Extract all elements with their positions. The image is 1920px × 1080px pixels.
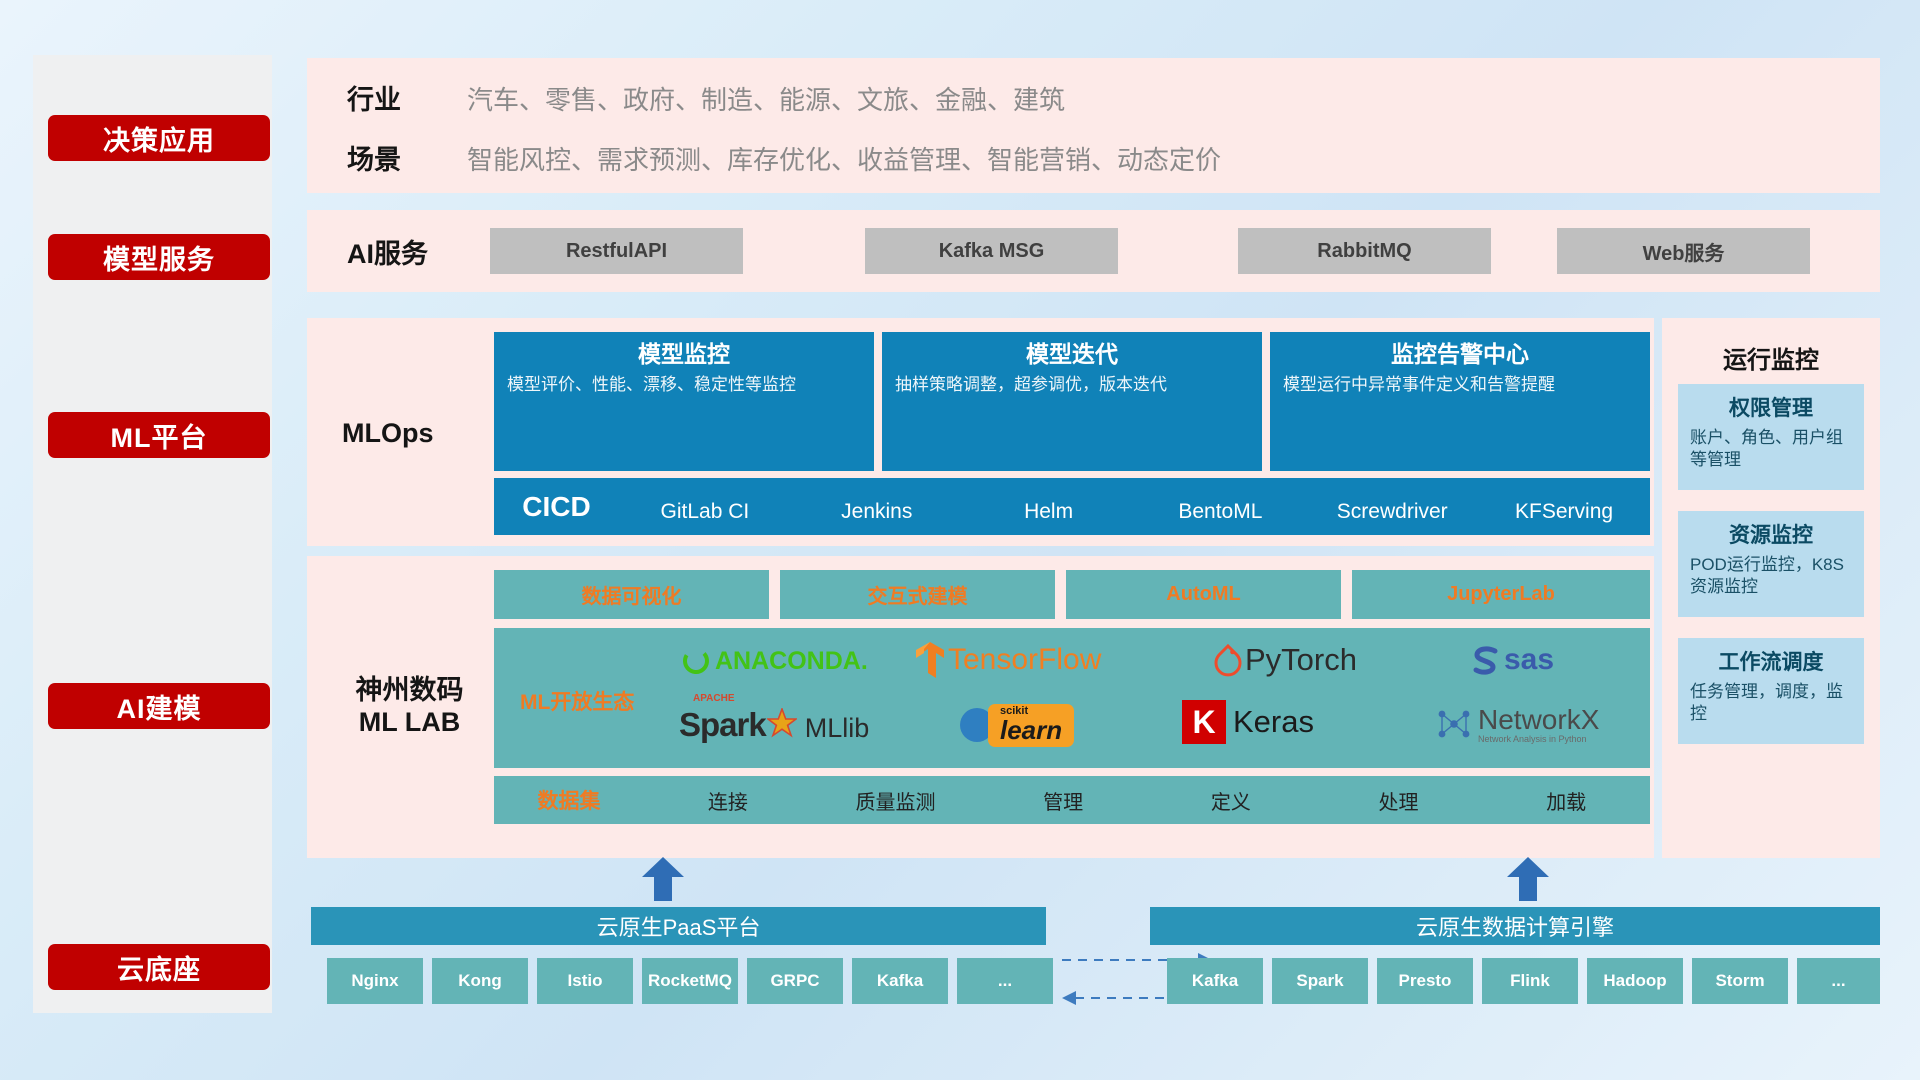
keras-wordmark: Keras <box>1233 704 1314 740</box>
monitoring-card-workflow[interactable]: 工作流调度 任务管理，调度，监控 <box>1678 638 1864 744</box>
card-title: 工作流调度 <box>1690 646 1852 676</box>
arrow-up-data-engine <box>1505 857 1551 901</box>
card-desc: 任务管理，调度，监控 <box>1690 681 1852 726</box>
cicd-item-bentoml[interactable]: BentoML <box>1134 478 1306 535</box>
node-chip-storm[interactable]: Storm <box>1692 958 1788 1004</box>
anaconda-logo[interactable]: ANACONDA. <box>681 636 868 686</box>
tier-label-text: 云底座 <box>117 948 201 987</box>
tier-label-cloud-base[interactable]: 云底座 <box>48 944 270 990</box>
node-label: Kafka <box>877 971 923 991</box>
mlops-card-model-monitoring[interactable]: 模型监控 模型评价、性能、漂移、稳定性等监控 <box>494 332 874 471</box>
node-label: GRPC <box>770 971 819 991</box>
scenario-row-key: 场景 <box>347 138 401 177</box>
mlops-panel: MLOps 模型监控 模型评价、性能、漂移、稳定性等监控 模型迭代 抽样策略调整… <box>307 318 1654 546</box>
pytorch-wordmark: PyTorch <box>1245 642 1357 678</box>
node-label: Spark <box>1296 971 1343 991</box>
node-label: Kong <box>458 971 501 991</box>
chip-label: JupyterLab <box>1447 583 1555 606</box>
node-label: Nginx <box>351 971 398 991</box>
cicd-item-jenkins[interactable]: Jenkins <box>791 478 963 535</box>
spark-star-mark <box>767 708 797 738</box>
chip-label: 数据可视化 <box>582 580 682 609</box>
chip-data-visualization[interactable]: 数据可视化 <box>494 570 769 619</box>
sas-mark <box>1469 643 1503 677</box>
ai-service-row-label: AI服务 <box>347 232 428 271</box>
cicd-bar: CICD GitLab CI Jenkins Helm BentoML Scre… <box>494 478 1650 535</box>
model-service-panel: AI服务 RestfulAPI Kafka MSG RabbitMQ Web服务 <box>307 210 1880 292</box>
spark-wordmark: Spark <box>679 706 766 744</box>
chip-label: AutoML <box>1166 583 1240 606</box>
chip-label: Web服务 <box>1643 237 1725 266</box>
chip-restful-api[interactable]: RestfulAPI <box>490 228 743 274</box>
tier-label-text: 决策应用 <box>103 119 215 158</box>
tensorflow-logo[interactable]: TensorFlow <box>914 632 1101 688</box>
keras-logo[interactable]: K Keras <box>1182 694 1314 750</box>
data-compute-engine-bar[interactable]: 云原生数据计算引擎 <box>1150 907 1880 945</box>
node-chip-more-left[interactable]: ... <box>957 958 1053 1004</box>
tensorflow-wordmark: TensorFlow <box>948 643 1101 677</box>
anaconda-mark <box>681 646 711 676</box>
tier-label-decision-app[interactable]: 决策应用 <box>48 115 270 161</box>
scenario-row-value: 智能风控、需求预测、库存优化、收益管理、智能营销、动态定价 <box>467 140 1221 177</box>
paas-platform-bar[interactable]: 云原生PaaS平台 <box>311 907 1046 945</box>
dataset-item-process[interactable]: 处理 <box>1315 786 1483 815</box>
architecture-diagram: 决策应用 模型服务 ML平台 AI建模 云底座 行业 汽车、零售、政府、制造、能… <box>0 0 1920 1080</box>
node-label: Istio <box>568 971 603 991</box>
networkx-subtitle: Network Analysis in Python <box>1478 734 1599 744</box>
industry-row-key: 行业 <box>347 78 401 117</box>
node-label: RocketMQ <box>648 971 732 991</box>
node-chip-more-right[interactable]: ... <box>1797 958 1880 1004</box>
chip-jupyterlab[interactable]: JupyterLab <box>1352 570 1650 619</box>
card-title: 模型监控 <box>507 341 861 367</box>
apache-wordmark: APACHE <box>693 693 734 704</box>
dataset-item-connect[interactable]: 连接 <box>644 786 812 815</box>
spark-mark-group: APACHE Spark MLlib <box>679 706 869 744</box>
monitoring-title: 运行监控 <box>1662 340 1880 375</box>
networkx-wordmark-group: NetworkX Network Analysis in Python <box>1478 704 1599 744</box>
node-label: Presto <box>1399 971 1452 991</box>
tier-label-ai-modeling[interactable]: AI建模 <box>48 683 270 729</box>
pytorch-mark <box>1214 643 1242 677</box>
scikit-learn-logo[interactable]: scikit learn <box>956 696 1074 754</box>
chip-label: 交互式建模 <box>868 580 968 609</box>
data-compute-engine-label: 云原生数据计算引擎 <box>1416 910 1614 942</box>
ml-open-ecosystem-label: ML开放生态 <box>520 686 634 716</box>
node-chip-spark[interactable]: Spark <box>1272 958 1368 1004</box>
chip-label: Kafka MSG <box>939 240 1045 263</box>
cicd-item-helm[interactable]: Helm <box>963 478 1135 535</box>
cicd-label: CICD <box>494 478 619 535</box>
tier-label-model-service[interactable]: 模型服务 <box>48 234 270 280</box>
networkx-mark <box>1434 704 1474 744</box>
arrow-up-paas <box>640 857 686 901</box>
card-desc: POD运行监控，K8S资源监控 <box>1690 554 1852 599</box>
cicd-item-screwdriver[interactable]: Screwdriver <box>1306 478 1478 535</box>
node-label: ... <box>1831 971 1845 991</box>
chip-rabbitmq[interactable]: RabbitMQ <box>1238 228 1491 274</box>
dataset-item-load[interactable]: 加载 <box>1482 786 1650 815</box>
chip-kafka-msg[interactable]: Kafka MSG <box>865 228 1118 274</box>
dataset-item-manage[interactable]: 管理 <box>979 786 1147 815</box>
cicd-item-gitlab-ci[interactable]: GitLab CI <box>619 478 791 535</box>
decision-app-panel: 行业 汽车、零售、政府、制造、能源、文旅、金融、建筑 场景 智能风控、需求预测、… <box>307 58 1880 193</box>
tier-label-column <box>33 55 272 1013</box>
node-chip-presto[interactable]: Presto <box>1377 958 1473 1004</box>
node-chip-hadoop[interactable]: Hadoop <box>1587 958 1683 1004</box>
node-label: ... <box>998 971 1012 991</box>
chip-web-service[interactable]: Web服务 <box>1557 228 1810 274</box>
monitoring-card-resource[interactable]: 资源监控 POD运行监控，K8S资源监控 <box>1678 511 1864 617</box>
node-chip-rocketmq[interactable]: RocketMQ <box>642 958 738 1004</box>
learn-wordmark: learn <box>1000 717 1062 743</box>
tier-label-text: AI建模 <box>117 687 202 726</box>
chip-label: RabbitMQ <box>1317 240 1411 263</box>
ml-open-ecosystem-band: ML开放生态 ANACONDA. TensorFlow <box>494 628 1650 768</box>
node-label: Storm <box>1715 971 1764 991</box>
mlops-row-label: MLOps <box>342 418 434 449</box>
mllib-wordmark: MLlib <box>805 713 870 744</box>
node-chip-kafka-left[interactable]: Kafka <box>852 958 948 1004</box>
chip-automl[interactable]: AutoML <box>1066 570 1341 619</box>
dataset-row: 数据集 连接 质量监测 管理 定义 处理 加载 <box>494 776 1650 824</box>
dataset-item-define[interactable]: 定义 <box>1147 786 1315 815</box>
monitoring-panel: 运行监控 权限管理 账户、角色、用户组等管理 资源监控 POD运行监控，K8S资… <box>1662 318 1880 858</box>
keras-mark: K <box>1182 700 1226 744</box>
sas-wordmark: sas <box>1504 643 1554 677</box>
card-desc: 模型运行中异常事件定义和告警提醒 <box>1283 374 1637 396</box>
paas-platform-label: 云原生PaaS平台 <box>597 910 761 942</box>
monitoring-card-permission[interactable]: 权限管理 账户、角色、用户组等管理 <box>1678 384 1864 490</box>
tier-label-ml-platform[interactable]: ML平台 <box>48 412 270 458</box>
spark-mllib-logo[interactable]: APACHE Spark MLlib <box>679 694 869 756</box>
card-title: 权限管理 <box>1690 392 1852 422</box>
node-label: Hadoop <box>1603 971 1666 991</box>
tier-label-text: ML平台 <box>111 416 208 455</box>
ml-lab-label-line1: 神州数码 <box>327 668 492 707</box>
mlops-card-model-iteration[interactable]: 模型迭代 抽样策略调整，超参调优，版本迭代 <box>882 332 1262 471</box>
card-title: 监控告警中心 <box>1283 341 1637 367</box>
card-title: 模型迭代 <box>895 341 1249 367</box>
tensorflow-mark <box>914 640 946 680</box>
node-chip-flink[interactable]: Flink <box>1482 958 1578 1004</box>
node-chip-nginx[interactable]: Nginx <box>327 958 423 1004</box>
card-desc: 模型评价、性能、漂移、稳定性等监控 <box>507 374 861 396</box>
node-chip-kafka-right[interactable]: Kafka <box>1167 958 1263 1004</box>
tier-label-text: 模型服务 <box>103 238 215 277</box>
anaconda-wordmark: ANACONDA. <box>715 647 868 676</box>
card-desc: 账户、角色、用户组等管理 <box>1690 427 1852 472</box>
sas-logo[interactable]: sas <box>1469 636 1554 684</box>
pytorch-logo[interactable]: PyTorch <box>1214 634 1357 686</box>
dataset-item-quality-monitoring[interactable]: 质量监测 <box>812 786 980 815</box>
cicd-item-kfserving[interactable]: KFServing <box>1478 478 1650 535</box>
mlops-card-alert-center[interactable]: 监控告警中心 模型运行中异常事件定义和告警提醒 <box>1270 332 1650 471</box>
node-label: Flink <box>1510 971 1550 991</box>
dataset-label: 数据集 <box>494 785 644 815</box>
node-chip-grpc[interactable]: GRPC <box>747 958 843 1004</box>
node-chip-kong[interactable]: Kong <box>432 958 528 1004</box>
ml-lab-row-label: 神州数码 ML LAB <box>327 668 492 738</box>
card-desc: 抽样策略调整，超参调优，版本迭代 <box>895 374 1249 396</box>
node-chip-istio[interactable]: Istio <box>537 958 633 1004</box>
networkx-logo[interactable]: NetworkX Network Analysis in Python <box>1434 696 1599 752</box>
ml-lab-label-line2: ML LAB <box>327 707 492 738</box>
ai-modeling-panel: 神州数码 ML LAB 数据可视化 交互式建模 AutoML JupyterLa… <box>307 556 1654 858</box>
chip-label: RestfulAPI <box>566 240 667 263</box>
node-label: Kafka <box>1192 971 1238 991</box>
industry-row-value: 汽车、零售、政府、制造、能源、文旅、金融、建筑 <box>467 80 1065 117</box>
networkx-wordmark: NetworkX <box>1478 704 1599 736</box>
scikit-learn-badge: scikit learn <box>988 704 1074 747</box>
card-title: 资源监控 <box>1690 519 1852 549</box>
chip-interactive-modeling[interactable]: 交互式建模 <box>780 570 1055 619</box>
